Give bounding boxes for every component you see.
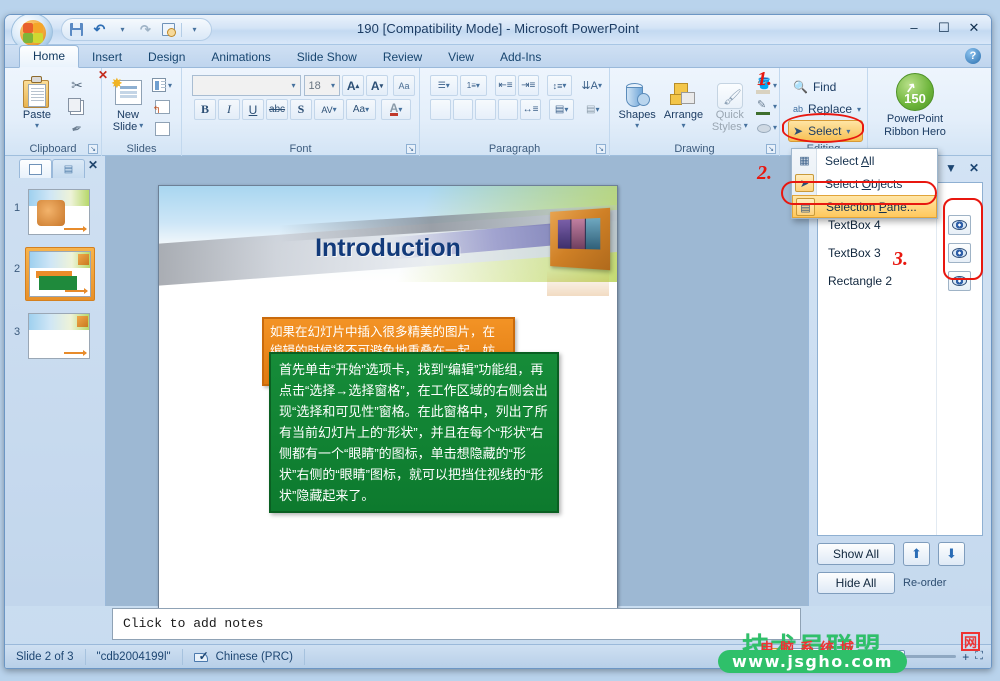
thumbnail-number: 1	[9, 186, 25, 214]
slide-counter[interactable]: Slide 2 of 3	[5, 649, 86, 665]
format-painter-icon[interactable]: ✒	[64, 116, 90, 142]
clipboard-dialog-launcher[interactable]: ↘	[88, 144, 98, 154]
shape-outline-icon[interactable]: ✎▾	[753, 98, 775, 117]
select-all-icon: ▦	[795, 151, 814, 169]
move-up-button[interactable]: ⬆	[903, 542, 930, 566]
font-group-label: Font	[182, 143, 419, 155]
strikethrough-button[interactable]: abc	[266, 99, 288, 120]
language-status[interactable]: ✓ Chinese (PRC)	[183, 649, 305, 665]
tab-insert[interactable]: Insert	[79, 47, 135, 68]
grow-font-button[interactable]: A▴	[342, 75, 364, 96]
new-slide-button[interactable]: ✸ New Slide ▾	[106, 73, 150, 133]
hero-label-1: PowerPoint	[872, 113, 958, 126]
pane-collapse-chevron-down-icon[interactable]: ▼	[945, 161, 957, 175]
slide-canvas[interactable]: Introduction 如果在幻灯片中插入很多精美的图片，在编辑的时候将不可避…	[158, 185, 618, 610]
ribbon: Paste ▾ ✂ ✒ Clipboard ↘ ✸ New	[5, 68, 991, 156]
align-left-icon[interactable]	[430, 99, 451, 120]
reset-slide-icon[interactable]	[152, 97, 172, 117]
clipboard-group-label: Clipboard	[5, 143, 101, 155]
help-icon[interactable]: ?	[965, 48, 981, 64]
ribbon-group-slides: ✸ New Slide ▾ ▾ ✕	[101, 68, 181, 156]
align-text-icon[interactable]: ↔≡	[520, 99, 541, 120]
hero-label-2: Ribbon Hero	[872, 126, 958, 139]
slides-thumbnail-pane: ▤ ✕ 1 2	[5, 156, 106, 606]
align-center-icon[interactable]	[453, 99, 474, 120]
powerpoint-window: ↶ ▾ ↷ ▾ 190 [Compatibility Mode] - Micro…	[4, 14, 992, 669]
replace-icon: ab	[793, 104, 803, 114]
tab-slide-show[interactable]: Slide Show	[284, 47, 370, 68]
bullets-icon[interactable]: ☰▾	[430, 75, 458, 96]
line-spacing-icon[interactable]: ↕≡▾	[547, 75, 573, 96]
maximize-button[interactable]: ☐	[935, 19, 953, 37]
ribbon-tabs: Home Insert Design Animations Slide Show…	[5, 45, 991, 68]
list-item[interactable]: 2	[9, 247, 99, 301]
copy-icon[interactable]	[67, 97, 87, 117]
character-spacing-chevron-down-icon[interactable]: ▾	[333, 105, 337, 114]
spell-check-icon: ✓	[194, 651, 210, 663]
ribbon-group-font: ▾ 18 ▾ A▴ A▾ Aa	[181, 68, 419, 156]
thumbnail-number: 3	[9, 310, 25, 338]
ribbon-group-clipboard: Paste ▾ ✂ ✒ Clipboard ↘	[5, 68, 101, 156]
thumbnail-frame-selected[interactable]	[25, 247, 95, 301]
slide-thumbnail-3	[28, 313, 90, 359]
layout-icon[interactable]: ▾	[152, 75, 172, 95]
hide-all-row: Hide All Re-order	[817, 572, 983, 594]
slides-group-label: Slides	[102, 143, 181, 155]
ribbon-hero-badge-icon: ↗ 150	[896, 73, 934, 111]
select-all-label: Select All	[825, 154, 874, 168]
close-slides-pane-icon[interactable]: ✕	[88, 158, 98, 172]
list-item[interactable]: 3	[9, 310, 99, 362]
font-size-value: 18	[309, 80, 321, 92]
quick-styles-label-1: Quick	[707, 109, 753, 121]
new-slide-icon: ✸	[106, 75, 150, 109]
quick-styles-label-2: Styles	[712, 121, 742, 133]
quick-styles-chevron-down-icon[interactable]: ▾	[744, 121, 748, 133]
arrange-icon	[660, 75, 706, 109]
character-spacing-label: AV	[321, 105, 332, 115]
delete-slide-icon[interactable]: ✕	[152, 119, 172, 139]
powerpoint-ribbon-hero-button[interactable]: ↗ 150 PowerPoint Ribbon Hero	[872, 71, 958, 139]
tab-review[interactable]: Review	[370, 47, 435, 68]
shrink-font-label: A	[371, 79, 380, 93]
zoom-in-button[interactable]: +	[962, 650, 969, 664]
outline-tab-icon[interactable]: ▤	[52, 159, 85, 178]
tab-view[interactable]: View	[435, 47, 487, 68]
shapes-button[interactable]: Shapes ▾	[614, 75, 660, 130]
show-all-row: Show All ⬆ ⬇	[817, 542, 983, 566]
columns-icon[interactable]: ▤▾	[549, 99, 575, 120]
font-name-combobox[interactable]: ▾	[192, 75, 301, 96]
shapes-icon	[614, 75, 660, 109]
font-color-label: A	[390, 103, 399, 116]
shrink-font-button[interactable]: A▾	[366, 75, 388, 96]
notes-pane[interactable]: Click to add notes	[112, 608, 801, 640]
annotation-circle-select-button	[782, 113, 864, 143]
font-color-chevron-down-icon[interactable]: ▾	[398, 105, 402, 114]
thumbnail-number: 2	[9, 247, 25, 275]
font-size-chevron-down-icon[interactable]: ▾	[331, 81, 335, 90]
font-name-chevron-down-icon[interactable]: ▾	[292, 81, 296, 90]
theme-name[interactable]: "cdb2004199l"	[86, 649, 183, 665]
fit-to-window-icon[interactable]: ⛶	[975, 650, 983, 663]
watermark-badge-icon: 网	[961, 632, 980, 651]
annotation-circle-eye-icons	[943, 198, 983, 280]
font-size-combobox[interactable]: 18 ▾	[304, 75, 340, 96]
shape-name-list: TextBox 4 TextBox 3 Rectangle 2	[818, 183, 936, 535]
minimize-button[interactable]: –	[905, 19, 923, 37]
cut-icon[interactable]: ✂	[67, 75, 87, 95]
increase-indent-icon[interactable]: ⇥≡	[518, 75, 539, 96]
paste-button[interactable]: Paste ▾	[9, 73, 65, 130]
paste-label: Paste	[9, 109, 65, 121]
thumbnail-frame[interactable]	[25, 186, 93, 238]
annotation-circle-selection-pane-item	[781, 181, 937, 205]
replace-chevron-down-icon[interactable]: ▾	[857, 105, 861, 114]
change-case-label: Aa	[353, 104, 365, 115]
justify-icon[interactable]	[498, 99, 519, 120]
tab-animations[interactable]: Animations	[198, 47, 283, 68]
ribbon-group-drawing: Shapes ▾ Arrange ▾ 🖌 Quick Styl	[609, 68, 779, 156]
annotation-number-3: 3.	[893, 248, 908, 271]
paste-chevron-down-icon[interactable]: ▾	[9, 121, 65, 130]
grow-font-label: A	[347, 79, 356, 93]
green-textbox[interactable]: 首先单击“开始”选项卡，找到“编辑”功能组，再点击“选择→选择窗格”，在工作区域…	[269, 352, 559, 513]
slides-pane-tabs: ▤ ✕	[5, 156, 105, 178]
drawing-group-label: Drawing	[610, 143, 779, 155]
ribbon-group-ribbon-hero: ↗ 150 PowerPoint Ribbon Hero	[867, 68, 963, 156]
slide-title[interactable]: Introduction	[159, 234, 617, 263]
align-right-icon[interactable]	[475, 99, 496, 120]
list-item[interactable]: 1	[9, 186, 99, 238]
language-label: Chinese (PRC)	[216, 651, 293, 663]
list-item[interactable]: Rectangle 2	[818, 267, 936, 295]
cube-reflection	[547, 270, 609, 296]
annotation-number-2: 2.	[757, 162, 772, 185]
binoculars-icon: 🔍	[793, 80, 808, 94]
move-down-button[interactable]: ⬇	[938, 542, 965, 566]
arrange-label: Arrange	[660, 109, 706, 121]
watermark-url: www.jsgho.com	[718, 650, 907, 673]
shape-effects-icon[interactable]: ▾	[753, 119, 775, 138]
quick-styles-button[interactable]: 🖌 Quick Styles ▾	[707, 75, 753, 133]
new-slide-chevron-down-icon[interactable]: ▾	[139, 121, 143, 133]
new-slide-label-2: Slide	[113, 121, 137, 133]
change-case-chevron-down-icon[interactable]: ▾	[365, 105, 369, 114]
bold-button[interactable]: B	[194, 99, 216, 120]
clear-formatting-icon[interactable]: Aa	[393, 75, 415, 96]
tab-design[interactable]: Design	[135, 47, 198, 68]
find-label: Find	[813, 80, 836, 94]
slides-tab-icon[interactable]	[19, 159, 52, 178]
text-direction-icon[interactable]: ⇊A▾	[580, 75, 603, 96]
character-spacing-button[interactable]: AV ▾	[314, 99, 344, 120]
decrease-indent-icon[interactable]: ⇤≡	[495, 75, 516, 96]
quick-styles-icon: 🖌	[707, 75, 753, 109]
font-color-button[interactable]: A ▾	[381, 99, 411, 120]
font-dialog-launcher[interactable]: ↘	[406, 144, 416, 154]
drawing-dialog-launcher[interactable]: ↘	[766, 144, 776, 154]
underline-button[interactable]: U	[242, 99, 264, 120]
ribbon-group-paragraph: ☰▾ 1≡▾ ⇤≡ ⇥≡ ↕≡▾ ⇊A▾	[419, 68, 609, 156]
pane-close-icon[interactable]: ✕	[969, 161, 979, 175]
close-button[interactable]: ✕	[965, 19, 983, 37]
thumbnail-list: 1 2 3	[5, 180, 105, 606]
arrange-chevron-down-icon[interactable]: ▾	[660, 121, 706, 130]
annotation-number-1: 1.	[757, 68, 772, 91]
list-item[interactable]: TextBox 3	[818, 239, 936, 267]
change-case-button[interactable]: Aa ▾	[346, 99, 376, 120]
arrange-button[interactable]: Arrange ▾	[660, 75, 706, 130]
italic-button[interactable]: I	[218, 99, 240, 120]
slide-thumbnail-2	[29, 251, 91, 297]
hide-all-button[interactable]: Hide All	[817, 572, 895, 594]
paragraph-dialog-launcher[interactable]: ↘	[596, 144, 606, 154]
show-all-button[interactable]: Show All	[817, 543, 895, 565]
menu-item-select-all[interactable]: ▦ Select All	[792, 149, 937, 172]
tab-home[interactable]: Home	[19, 45, 79, 68]
window-title: 190 [Compatibility Mode] - Microsoft Pow…	[5, 21, 991, 36]
layout-chevron-down-icon[interactable]: ▾	[168, 81, 172, 90]
slide-thumbnail-1	[28, 189, 90, 235]
thumbnail-frame[interactable]	[25, 310, 93, 362]
text-shadow-button[interactable]: S	[290, 99, 312, 120]
convert-to-smartart-icon[interactable]: ▤▾	[582, 99, 603, 120]
window-controls: – ☐ ✕	[905, 19, 983, 37]
find-button[interactable]: 🔍 Find	[788, 76, 863, 98]
new-slide-label-1: New	[106, 109, 150, 121]
shapes-label: Shapes	[614, 109, 660, 121]
selection-pane-footer: Show All ⬆ ⬇ Hide All Re-order	[817, 542, 983, 600]
paragraph-group-label: Paragraph	[420, 143, 609, 155]
numbering-icon[interactable]: 1≡▾	[460, 75, 488, 96]
tab-add-ins[interactable]: Add-Ins	[487, 47, 554, 68]
paste-icon	[9, 75, 65, 109]
shapes-chevron-down-icon[interactable]: ▾	[614, 121, 660, 130]
reorder-label: Re-order	[903, 577, 946, 589]
title-bar: ↶ ▾ ↷ ▾ 190 [Compatibility Mode] - Micro…	[5, 15, 991, 45]
